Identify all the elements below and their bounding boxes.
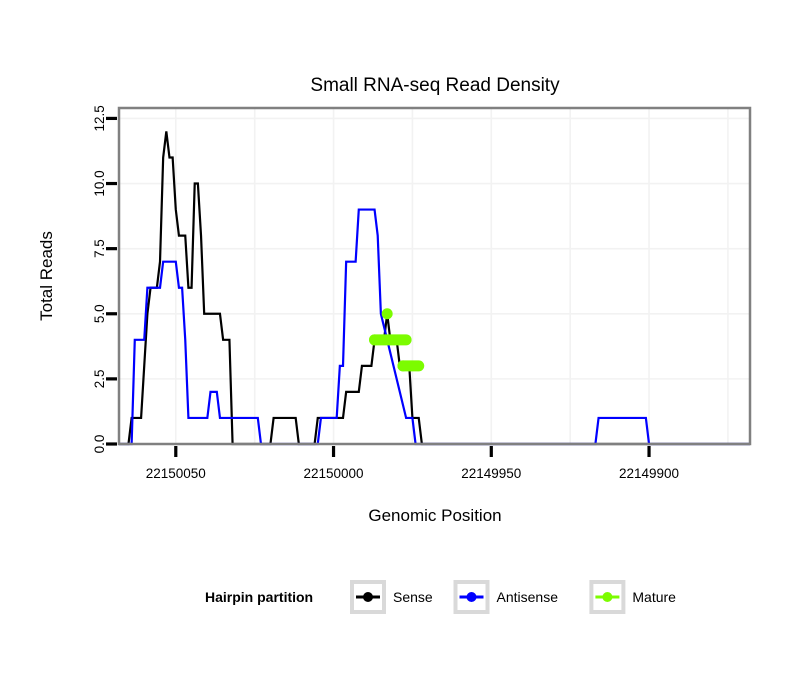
x-axis-tick-label: 22150000 (304, 466, 364, 481)
y-axis-tick-label: 0.0 (92, 435, 107, 454)
x-axis-title: Genomic Position (368, 506, 501, 525)
series-point-mature (397, 360, 408, 371)
series-point-mature (369, 334, 380, 345)
plot-panel (119, 108, 750, 444)
y-axis-tick-label: 7.5 (92, 239, 107, 258)
legend-item-antisense-point-glyph (467, 592, 477, 602)
read-density-plot: Small RNA-seq Read Density 2215005022150… (0, 0, 810, 690)
legend-item-mature-label: Mature (632, 589, 676, 605)
y-axis-tick-label: 2.5 (92, 369, 107, 388)
y-axis-tick-label: 12.5 (92, 105, 107, 131)
x-axis-tick-label: 22149900 (619, 466, 679, 481)
series-point-mature (382, 308, 393, 319)
legend-title: Hairpin partition (205, 589, 313, 605)
legend-item-sense-point-glyph (363, 592, 373, 602)
y-axis-tick-label: 10.0 (92, 170, 107, 196)
legend-item-mature-point-glyph (602, 592, 612, 602)
chart-figure: Small RNA-seq Read Density 2215005022150… (0, 0, 810, 690)
legend-item-antisense-label: Antisense (497, 589, 559, 605)
panel-background (119, 108, 750, 444)
page-title: Small RNA-seq Read Density (310, 75, 560, 96)
y-axis-title: Total Reads (37, 231, 56, 321)
y-axis-tick-label: 5.0 (92, 304, 107, 323)
legend-item-sense-label: Sense (393, 589, 433, 605)
x-axis-tick-label: 22149950 (461, 466, 521, 481)
x-axis-tick-label: 22150050 (146, 466, 206, 481)
